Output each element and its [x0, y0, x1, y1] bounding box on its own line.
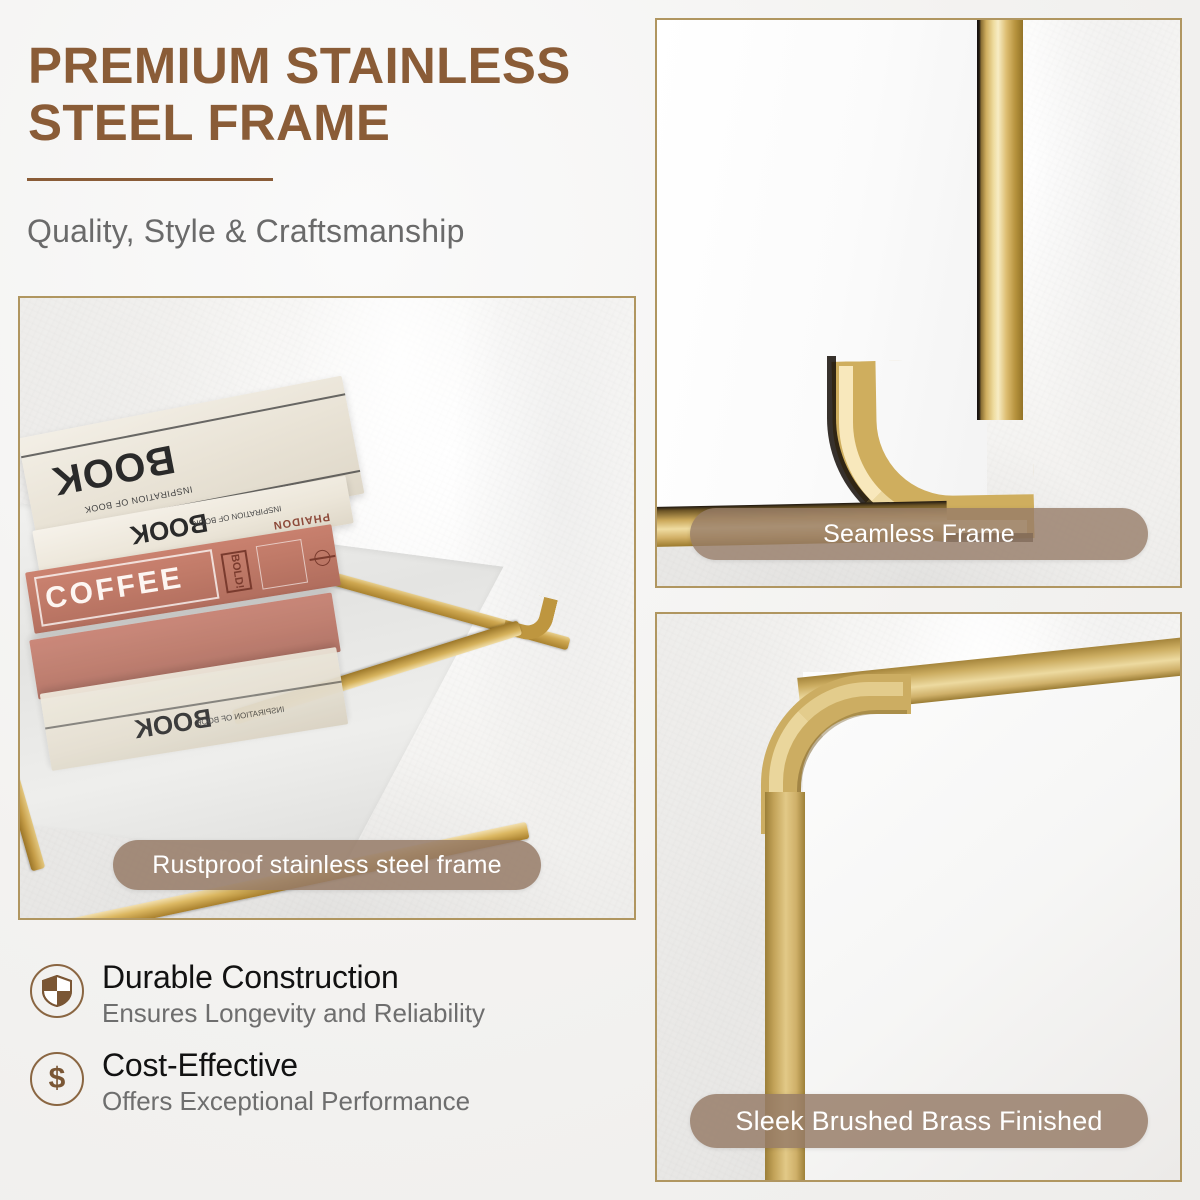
publisher-glyph — [313, 549, 331, 567]
book-spine-title: BOOK — [128, 507, 210, 551]
panel-seamless-frame — [655, 18, 1182, 588]
caption-brushed-brass: Sleek Brushed Brass Finished — [690, 1094, 1148, 1148]
caption-seamless-frame: Seamless Frame — [690, 508, 1148, 560]
marketing-banner: PREMIUM STAINLESS STEEL FRAME Quality, S… — [0, 0, 1200, 1200]
feature-subtitle: Offers Exceptional Performance — [102, 1085, 470, 1118]
feature-title: Cost-Effective — [102, 1048, 470, 1083]
feature-list: Durable Construction Ensures Longevity a… — [30, 960, 630, 1135]
mirror-tray-photo: BOOK INSPIRATION OF BOOK BOOK INSPIRATIO… — [20, 298, 634, 918]
feature-subtitle: Ensures Longevity and Reliability — [102, 997, 485, 1030]
page-subtitle: Quality, Style & Craftsmanship — [27, 213, 627, 250]
feature-item-durable-construction: Durable Construction Ensures Longevity a… — [30, 960, 630, 1030]
page-title: PREMIUM STAINLESS STEEL FRAME — [28, 38, 628, 151]
feature-title: Durable Construction — [102, 960, 485, 995]
book-spine-subtitle: INSPIRATION OF BOOK — [193, 503, 282, 528]
panel-rustproof-frame: BOOK INSPIRATION OF BOOK BOOK INSPIRATIO… — [18, 296, 636, 920]
book-spine-tag: BOLD! — [221, 550, 253, 594]
shield-icon — [30, 964, 84, 1018]
feature-item-cost-effective: $ Cost-Effective Offers Exceptional Perf… — [30, 1048, 630, 1118]
dollar-icon: $ — [30, 1052, 84, 1106]
feature-text-block: Cost-Effective Offers Exceptional Perfor… — [102, 1048, 470, 1118]
svg-text:$: $ — [49, 1062, 66, 1095]
feature-text-block: Durable Construction Ensures Longevity a… — [102, 960, 485, 1030]
caption-rustproof-frame: Rustproof stainless steel frame — [113, 840, 541, 890]
title-divider — [27, 178, 273, 181]
